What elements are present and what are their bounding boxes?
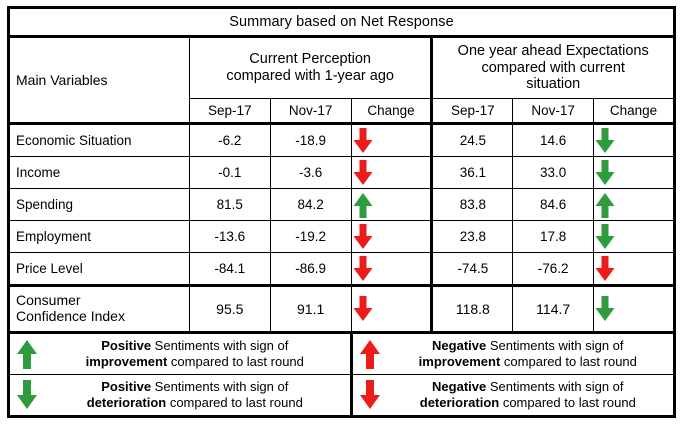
page-title: Summary based on Net Response bbox=[9, 8, 675, 37]
row-label-income: Income bbox=[9, 157, 190, 189]
legend-text-2: Negative Sentiments with sign of improve… bbox=[387, 338, 673, 371]
col-header-current-sep17: Sep-17 bbox=[189, 99, 270, 124]
cell-current-nov17: 91.1 bbox=[270, 286, 351, 333]
expectations-line1: One year ahead Expectations bbox=[458, 43, 649, 59]
cell-expect-nov17: 33.0 bbox=[513, 157, 594, 189]
current-perception-group-header: Current Perception compared with 1-year … bbox=[189, 37, 432, 99]
cell-expect-nov17: 114.7 bbox=[513, 286, 594, 333]
cell-current-nov17: -3.6 bbox=[270, 157, 351, 189]
row-label-economic-situation: Economic Situation bbox=[9, 124, 190, 157]
row-label-spending: Spending bbox=[9, 189, 190, 221]
arrow-down-red-icon bbox=[352, 256, 431, 282]
legend-item-negative-improvement: Negative Sentiments with sign of improve… bbox=[351, 333, 674, 375]
cell-expect-change bbox=[594, 189, 675, 221]
row-label-consumer-confidence-index: Consumer Confidence Index bbox=[9, 286, 190, 333]
net-response-summary-table: Summary based on Net Response Main Varia… bbox=[7, 6, 676, 418]
cell-expect-nov17: 17.8 bbox=[513, 221, 594, 253]
cell-expect-sep17: 23.8 bbox=[432, 221, 513, 253]
main-variables-header: Main Variables bbox=[9, 37, 190, 124]
arrow-up-green-icon bbox=[594, 192, 673, 218]
cell-current-sep17: 95.5 bbox=[189, 286, 270, 333]
current-perception-line2: compared with 1-year ago bbox=[226, 68, 394, 84]
arrow-up-green-icon bbox=[352, 192, 431, 218]
col-header-expect-nov17: Nov-17 bbox=[513, 99, 594, 124]
table-row: Spending 81.5 84.2 83.8 84.6 bbox=[9, 189, 675, 221]
row-label-employment: Employment bbox=[9, 221, 190, 253]
arrow-down-red-icon bbox=[594, 256, 673, 282]
cell-current-change bbox=[351, 124, 432, 157]
legend-plain-2a: Sentiments with sign of bbox=[486, 338, 623, 353]
legend-bold-3a: Positive bbox=[101, 379, 151, 394]
legend-plain-2b: compared to last round bbox=[500, 354, 637, 369]
table-row: Employment -13.6 -19.2 23.8 17.8 bbox=[9, 221, 675, 253]
arrow-down-green-icon bbox=[594, 128, 673, 154]
arrow-down-red-icon bbox=[352, 224, 431, 250]
legend-plain-4b: compared to last round bbox=[499, 395, 636, 410]
arrow-down-green-icon bbox=[10, 380, 44, 410]
legend-text-3: Positive Sentiments with sign of deterio… bbox=[44, 379, 350, 412]
cell-current-nov17: -86.9 bbox=[270, 253, 351, 286]
cell-expect-sep17: 24.5 bbox=[432, 124, 513, 157]
table-row: Price Level -84.1 -86.9 -74.5 -76.2 bbox=[9, 253, 675, 286]
legend-plain-3b: compared to last round bbox=[166, 395, 303, 410]
table-row: Economic Situation -6.2 -18.9 24.5 14.6 bbox=[9, 124, 675, 157]
arrow-down-green-icon bbox=[594, 296, 673, 322]
cell-expect-change bbox=[594, 253, 675, 286]
col-header-expect-change: Change bbox=[594, 99, 675, 124]
arrow-down-red-icon bbox=[353, 380, 387, 410]
cell-expect-change bbox=[594, 221, 675, 253]
legend-bold-1a: Positive bbox=[101, 338, 151, 353]
cell-expect-sep17: 83.8 bbox=[432, 189, 513, 221]
arrow-down-red-icon bbox=[352, 160, 431, 186]
cell-current-nov17: -19.2 bbox=[270, 221, 351, 253]
arrow-down-green-icon bbox=[594, 224, 673, 250]
cell-current-change bbox=[351, 189, 432, 221]
legend-item-positive-improvement: Positive Sentiments with sign of improve… bbox=[9, 333, 352, 375]
row-label-price-level: Price Level bbox=[9, 253, 190, 286]
expectations-line3: situation bbox=[526, 76, 580, 92]
legend-bold-4a: Negative bbox=[432, 379, 486, 394]
table-row-consumer-confidence-index: Consumer Confidence Index 95.5 91.1 118.… bbox=[9, 286, 675, 333]
arrow-down-green-icon bbox=[594, 160, 673, 186]
cell-expect-sep17: 118.8 bbox=[432, 286, 513, 333]
cci-label-line2: Confidence Index bbox=[16, 308, 125, 324]
cell-current-change bbox=[351, 157, 432, 189]
cell-expect-nov17: 84.6 bbox=[513, 189, 594, 221]
legend-plain-1a: Sentiments with sign of bbox=[151, 338, 288, 353]
legend-plain-1b: compared to last round bbox=[167, 354, 304, 369]
legend-bold-2b: improvement bbox=[419, 354, 501, 369]
legend-bold-2a: Negative bbox=[432, 338, 486, 353]
expectations-line2: compared with current bbox=[481, 60, 624, 76]
legend-row-1: Positive Sentiments with sign of improve… bbox=[9, 333, 675, 375]
legend-row-2: Positive Sentiments with sign of deterio… bbox=[9, 375, 675, 417]
cell-expect-change bbox=[594, 286, 675, 333]
col-header-current-change: Change bbox=[351, 99, 432, 124]
expectations-group-header: One year ahead Expectations compared wit… bbox=[432, 37, 675, 99]
legend-item-negative-deterioration: Negative Sentiments with sign of deterio… bbox=[351, 375, 674, 417]
cell-current-sep17: -84.1 bbox=[189, 253, 270, 286]
table-row: Income -0.1 -3.6 36.1 33.0 bbox=[9, 157, 675, 189]
col-header-current-nov17: Nov-17 bbox=[270, 99, 351, 124]
summary-table-panel: Summary based on Net Response Main Varia… bbox=[0, 0, 683, 434]
arrow-up-green-icon bbox=[10, 339, 44, 369]
cell-current-change bbox=[351, 221, 432, 253]
arrow-down-red-icon bbox=[352, 128, 431, 154]
current-perception-line1: Current Perception bbox=[249, 51, 371, 67]
cell-current-change bbox=[351, 253, 432, 286]
cell-current-nov17: 84.2 bbox=[270, 189, 351, 221]
legend-bold-1b: improvement bbox=[86, 354, 168, 369]
cell-current-sep17: 81.5 bbox=[189, 189, 270, 221]
cell-expect-sep17: -74.5 bbox=[432, 253, 513, 286]
legend-text-4: Negative Sentiments with sign of deterio… bbox=[387, 379, 673, 412]
legend-plain-3a: Sentiments with sign of bbox=[151, 379, 288, 394]
legend-plain-4a: Sentiments with sign of bbox=[486, 379, 623, 394]
cell-current-sep17: -13.6 bbox=[189, 221, 270, 253]
arrow-up-red-icon bbox=[353, 339, 387, 369]
legend-item-positive-deterioration: Positive Sentiments with sign of deterio… bbox=[9, 375, 352, 417]
cell-current-sep17: -6.2 bbox=[189, 124, 270, 157]
arrow-down-red-icon bbox=[352, 296, 431, 322]
table-title-row: Summary based on Net Response bbox=[9, 8, 675, 37]
cell-current-change bbox=[351, 286, 432, 333]
group-header-row: Main Variables Current Perception compar… bbox=[9, 37, 675, 99]
legend-text-1: Positive Sentiments with sign of improve… bbox=[44, 338, 350, 371]
legend-bold-3b: deterioration bbox=[87, 395, 166, 410]
col-header-expect-sep17: Sep-17 bbox=[432, 99, 513, 124]
legend-bold-4b: deterioration bbox=[420, 395, 499, 410]
cci-label-line1: Consumer bbox=[16, 292, 81, 308]
cell-expect-change bbox=[594, 157, 675, 189]
cell-current-sep17: -0.1 bbox=[189, 157, 270, 189]
cell-expect-nov17: -76.2 bbox=[513, 253, 594, 286]
cell-expect-sep17: 36.1 bbox=[432, 157, 513, 189]
cell-current-nov17: -18.9 bbox=[270, 124, 351, 157]
cell-expect-nov17: 14.6 bbox=[513, 124, 594, 157]
cell-expect-change bbox=[594, 124, 675, 157]
